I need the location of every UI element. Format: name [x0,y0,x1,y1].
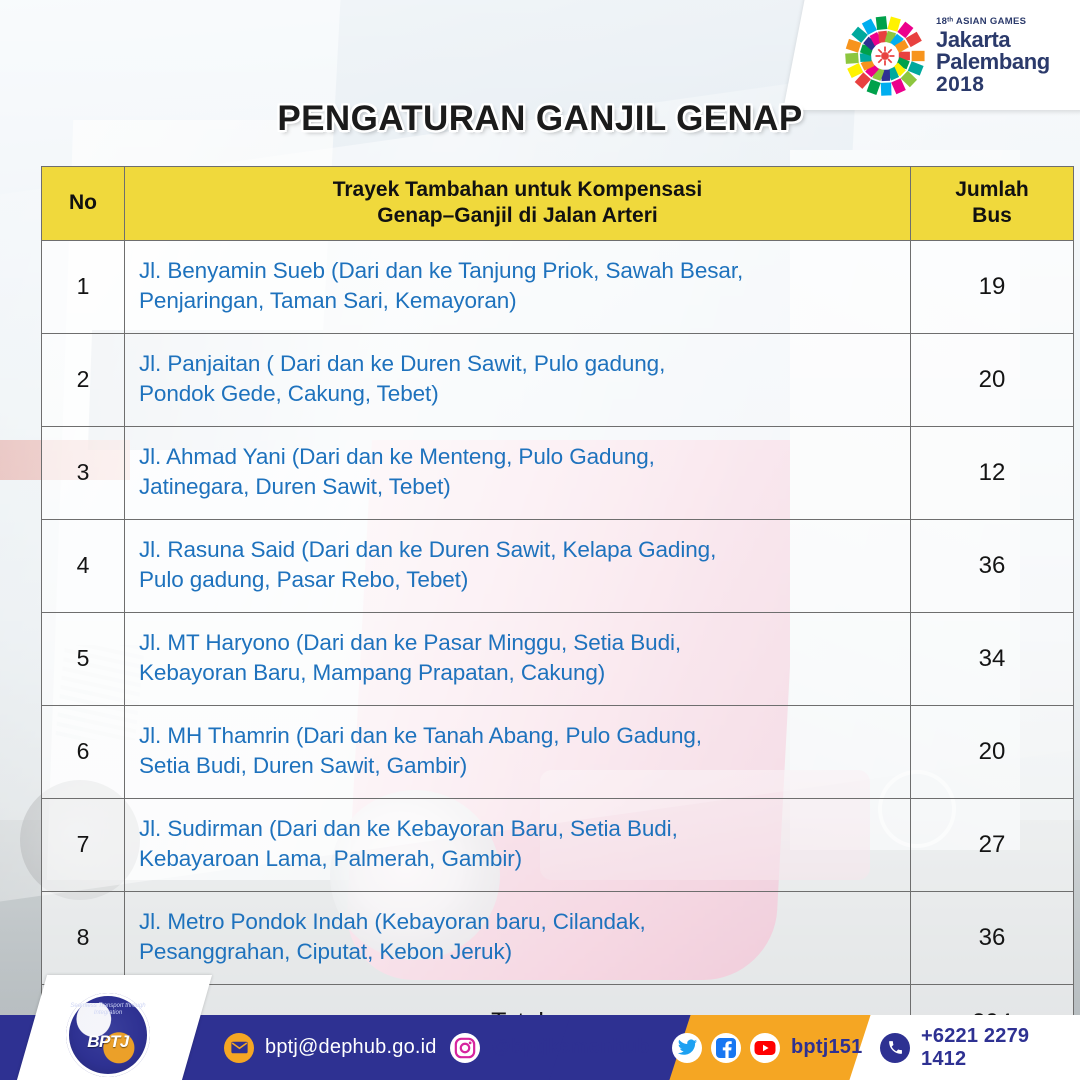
asian-games-energy-of-asia-icon [842,13,928,99]
row-route-line2: Setia Budi, Duren Sawit, Gambir) [139,751,910,781]
table-row: 7 Jl. Sudirman (Dari dan ke Kebayoran Ba… [42,798,1074,891]
row-bus-count: 36 [911,519,1074,612]
footer-instagram-item[interactable]: @bptjkemenhub [450,1015,650,1080]
table-row: 4 Jl. Rasuna Said (Dari dan ke Duren Saw… [42,519,1074,612]
footer-instagram-handle: @bptjkemenhub [491,1036,650,1059]
column-header-bus-count: Jumlah Bus [911,167,1074,241]
row-route-line2: Pulo gadung, Pasar Rebo, Tebet) [139,565,910,595]
row-number: 5 [42,612,125,705]
row-bus-count: 20 [911,333,1074,426]
bptj-logo: Seamless Transport through Integration B… [66,993,150,1077]
column-header-route-line2: Genap–Ganjil di Jalan Arteri [131,203,904,229]
row-route: Jl. Sudirman (Dari dan ke Kebayoran Baru… [125,798,911,891]
infographic-canvas: 18ᵗʰ ASIAN GAMES Jakarta Palembang 2018 … [0,0,1080,1080]
row-route-line2: Pesanggrahan, Ciputat, Kebon Jeruk) [139,937,910,967]
table-header-row: No Trayek Tambahan untuk Kompensasi Gena… [42,167,1074,241]
row-number: 2 [42,333,125,426]
row-route-line2: Kebayaroan Lama, Palmerah, Gambir) [139,844,910,874]
asian-games-edition: 18ᵗʰ ASIAN GAMES [936,17,1050,27]
asian-games-year: 2018 [936,74,1050,95]
asian-games-banner-content: 18ᵗʰ ASIAN GAMES Jakarta Palembang 2018 [800,0,1080,112]
column-header-route: Trayek Tambahan untuk Kompensasi Genap–G… [125,167,911,241]
row-route-line1: Jl. MH Thamrin (Dari dan ke Tanah Abang,… [139,721,910,751]
table-row: 8 Jl. Metro Pondok Indah (Kebayoran baru… [42,891,1074,984]
footer-email-item[interactable]: bptj@dephub.go.id [224,1015,437,1080]
row-route-line2: Pondok Gede, Cakung, Tebet) [139,379,910,409]
asian-games-city-palembang: Palembang [936,51,1050,73]
table-row: 1 Jl. Benyamin Sueb (Dari dan ke Tanjung… [42,240,1074,333]
row-bus-count: 20 [911,705,1074,798]
column-header-bus-count-line2: Bus [917,203,1067,229]
row-route-line1: Jl. Benyamin Sueb (Dari dan ke Tanjung P… [139,256,910,286]
ganjil-genap-table-wrapper: No Trayek Tambahan untuk Kompensasi Gena… [41,166,1034,1062]
row-route: Jl. Metro Pondok Indah (Kebayoran baru, … [125,891,911,984]
row-bus-count: 12 [911,426,1074,519]
contact-footer: Seamless Transport through Integration B… [0,1015,1080,1080]
footer-social-icon-group [672,1033,780,1063]
table-row: 5 Jl. MT Haryono (Dari dan ke Pasar Ming… [42,612,1074,705]
column-header-no: No [42,167,125,241]
envelope-icon [224,1033,254,1063]
ganjil-genap-table: No Trayek Tambahan untuk Kompensasi Gena… [41,166,1074,1062]
table-row: 6 Jl. MH Thamrin (Dari dan ke Tanah Aban… [42,705,1074,798]
bptj-wordmark: BPTJ [87,1032,128,1052]
row-bus-count: 36 [911,891,1074,984]
row-bus-count: 19 [911,240,1074,333]
row-bus-count: 27 [911,798,1074,891]
row-route-line1: Jl. Ahmad Yani (Dari dan ke Menteng, Pul… [139,442,910,472]
instagram-icon [450,1033,480,1063]
row-route-line1: Jl. MT Haryono (Dari dan ke Pasar Minggu… [139,628,910,658]
row-route-line1: Jl. Rasuna Said (Dari dan ke Duren Sawit… [139,535,910,565]
bptj-tagline: Seamless Transport through Integration [66,1003,150,1017]
row-route-line1: Jl. Metro Pondok Indah (Kebayoran baru, … [139,907,910,937]
table-body: 1 Jl. Benyamin Sueb (Dari dan ke Tanjung… [42,240,1074,1061]
phone-handset-icon [880,1033,910,1063]
column-header-route-line1: Trayek Tambahan untuk Kompensasi [131,177,904,203]
table-header: No Trayek Tambahan untuk Kompensasi Gena… [42,167,1074,241]
row-route-line2: Jatinegara, Duren Sawit, Tebet) [139,472,910,502]
table-row: 2 Jl. Panjaitan ( Dari dan ke Duren Sawi… [42,333,1074,426]
row-route-line2: Penjaringan, Taman Sari, Kemayoran) [139,286,910,316]
page-title: PENGATURAN GANJIL GENAP [0,99,1080,139]
facebook-icon[interactable] [711,1033,741,1063]
footer-social-item[interactable]: bptj151 [672,1015,862,1080]
row-route: Jl. Panjaitan ( Dari dan ke Duren Sawit,… [125,333,911,426]
row-route: Jl. Rasuna Said (Dari dan ke Duren Sawit… [125,519,911,612]
row-route-line1: Jl. Sudirman (Dari dan ke Kebayoran Baru… [139,814,910,844]
twitter-bird-icon[interactable] [672,1033,702,1063]
row-number: 6 [42,705,125,798]
asian-games-city-jakarta: Jakarta [936,29,1050,51]
row-number: 4 [42,519,125,612]
row-number: 1 [42,240,125,333]
row-number: 3 [42,426,125,519]
row-route: Jl. Benyamin Sueb (Dari dan ke Tanjung P… [125,240,911,333]
row-route-line2: Kebayoran Baru, Mampang Prapatan, Cakung… [139,658,910,688]
row-route: Jl. Ahmad Yani (Dari dan ke Menteng, Pul… [125,426,911,519]
column-header-bus-count-line1: Jumlah [917,177,1067,203]
asian-games-wordmark: 18ᵗʰ ASIAN GAMES Jakarta Palembang 2018 [936,17,1050,96]
row-route: Jl. MT Haryono (Dari dan ke Pasar Minggu… [125,612,911,705]
footer-email-text: bptj@dephub.go.id [265,1036,437,1059]
row-route: Jl. MH Thamrin (Dari dan ke Tanah Abang,… [125,705,911,798]
table-row: 3 Jl. Ahmad Yani (Dari dan ke Menteng, P… [42,426,1074,519]
footer-phone-item[interactable]: +6221 2279 1412 [880,1015,1080,1080]
row-number: 8 [42,891,125,984]
row-route-line1: Jl. Panjaitan ( Dari dan ke Duren Sawit,… [139,349,910,379]
row-number: 7 [42,798,125,891]
youtube-icon[interactable] [750,1033,780,1063]
footer-phone-number: +6221 2279 1412 [921,1025,1080,1071]
row-bus-count: 34 [911,612,1074,705]
footer-social-handle: bptj151 [791,1036,862,1059]
